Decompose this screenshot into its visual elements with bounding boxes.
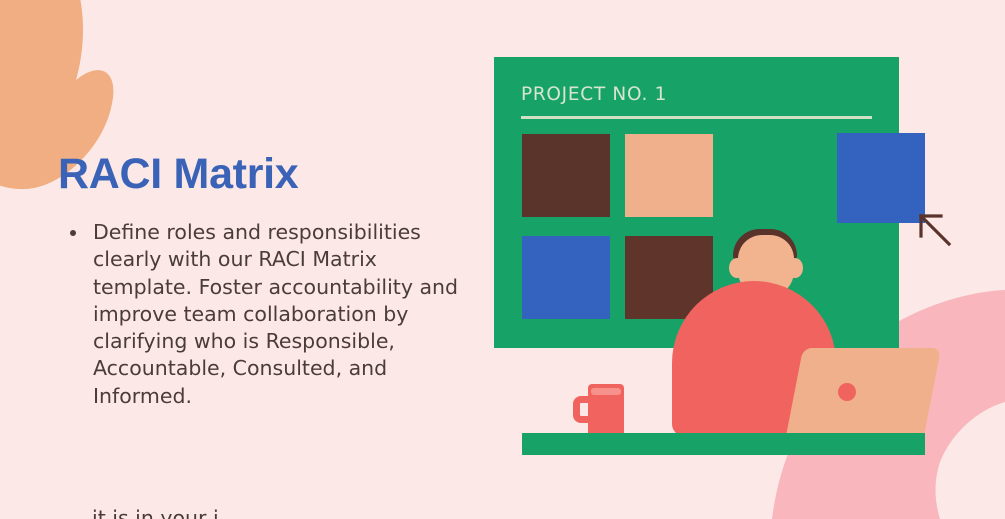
mug-rim <box>591 388 621 395</box>
swatch-blue <box>522 236 610 319</box>
swatch-peach <box>625 134 713 217</box>
slide-canvas: RACI Matrix Define roles and responsibil… <box>0 0 1005 519</box>
laptop-logo-icon <box>838 383 856 401</box>
illustration: PROJECT NO. 1 <box>0 0 1005 519</box>
desk-bar <box>522 433 925 455</box>
panel-title: PROJECT NO. 1 <box>521 84 667 105</box>
resize-arrow-icon[interactable] <box>919 214 955 250</box>
panel-title-rule <box>521 116 872 119</box>
swatch-dark-brown <box>522 134 610 217</box>
laptop <box>786 348 941 436</box>
blue-floating-square[interactable] <box>837 133 925 223</box>
